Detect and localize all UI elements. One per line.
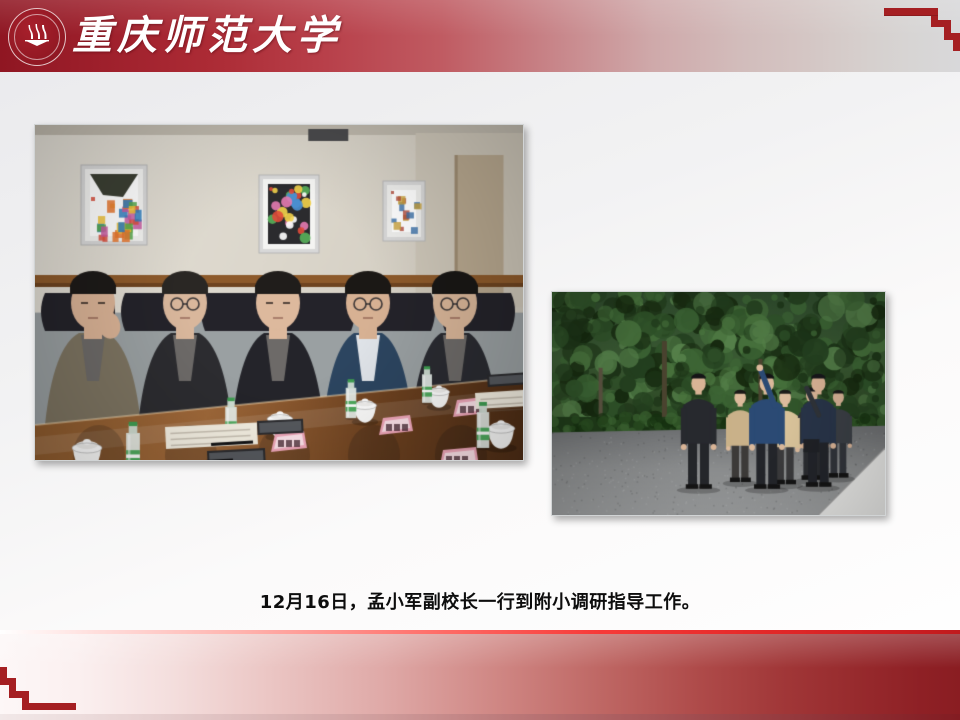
- footer-bottom-edge: [0, 714, 960, 720]
- seal-emblem-icon: [22, 22, 52, 48]
- university-name-title: 重庆师范大学: [72, 4, 342, 68]
- university-seal-logo: [8, 8, 66, 66]
- footer-accent-line: [0, 630, 960, 634]
- meeting-photo-canvas: [35, 125, 523, 460]
- corner-ornament-top-right-icon: [882, 6, 960, 60]
- slide-caption: 12月16日，孟小军副校长一行到附小调研指导工作。: [0, 588, 960, 614]
- campus-walk-photo-canvas: [552, 292, 885, 515]
- corner-ornament-bottom-left-icon: [0, 658, 78, 712]
- campus-walk-photo: [551, 291, 886, 516]
- meeting-photo: [34, 124, 524, 461]
- presentation-slide: 重庆师范大学 12月16日，孟小军副校长一行到附小调研指导工作。: [0, 0, 960, 720]
- slide-header: 重庆师范大学: [0, 0, 960, 72]
- footer-banner: [0, 630, 960, 720]
